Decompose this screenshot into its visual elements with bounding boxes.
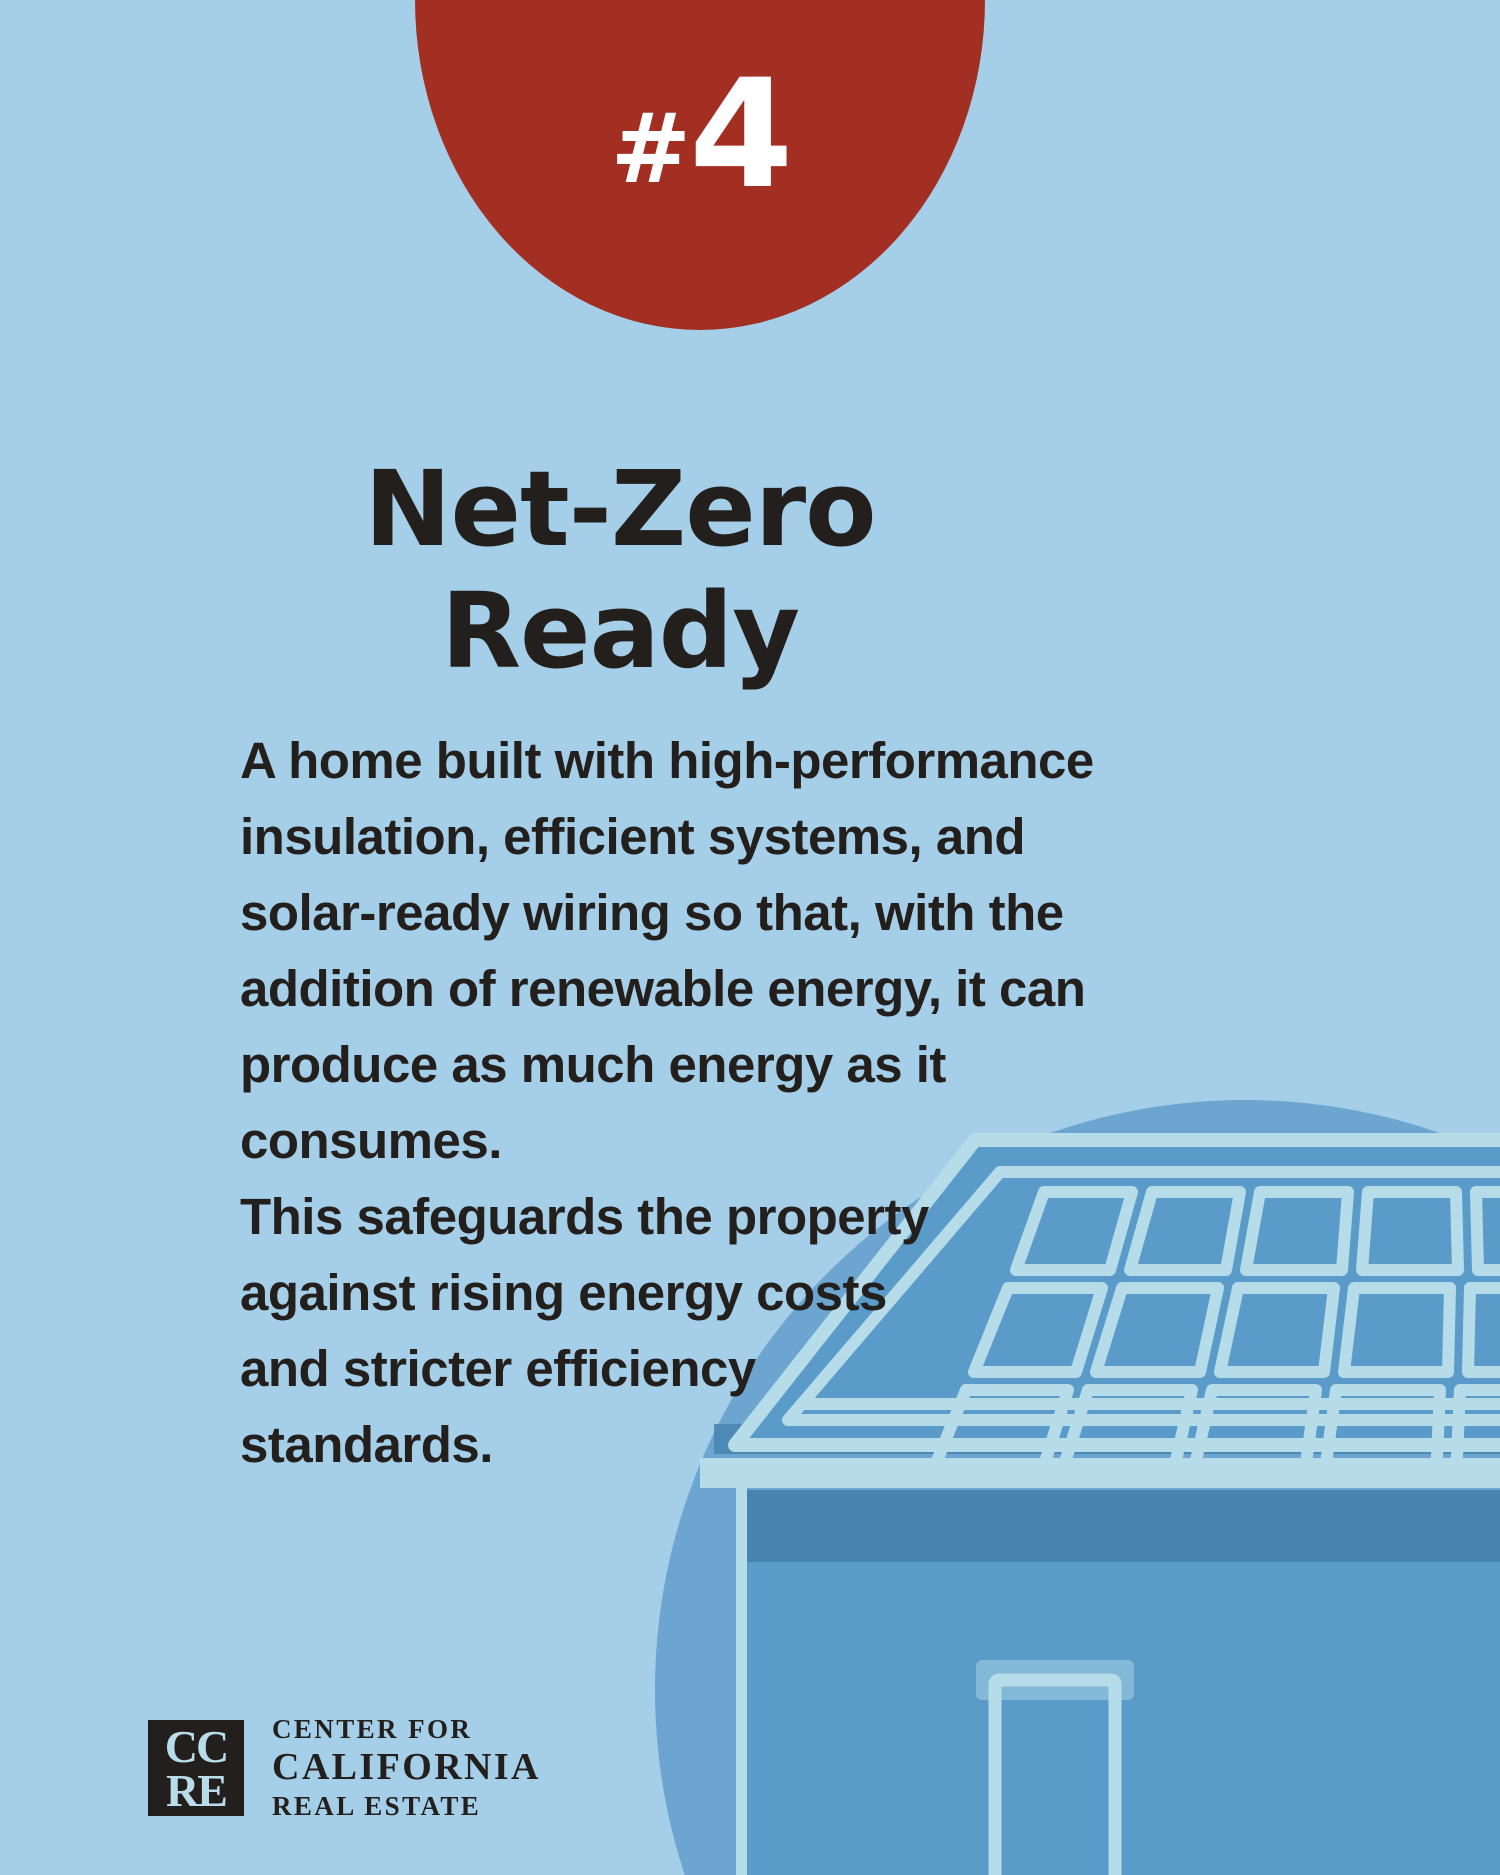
ccre-wordmark: CENTER FOR CALIFORNIA REAL ESTATE <box>272 1713 541 1823</box>
monogram-bottom: RE <box>166 1769 226 1813</box>
headline-line-1: Net-Zero <box>0 448 1240 571</box>
ccre-monogram-mark: CC RE <box>148 1720 244 1816</box>
door-header <box>976 1660 1134 1700</box>
house-eave-shadow <box>745 1490 1500 1562</box>
badge-number: #4 <box>611 60 790 210</box>
wordmark-line-3: REAL ESTATE <box>272 1790 541 1823</box>
number-badge: #4 <box>415 0 985 330</box>
house-left-edge <box>736 1475 747 1875</box>
net-zero-ready-card: #4 Net-Zero Ready A home built with high… <box>0 0 1500 1875</box>
body-paragraph: A home built with high-performance insul… <box>240 723 1140 1483</box>
ccre-monogram-text: CC RE <box>148 1720 244 1816</box>
headline-line-2: Ready <box>0 570 1240 693</box>
badge-hash-symbol: # <box>611 101 689 197</box>
ccre-logo: CC RE CENTER FOR CALIFORNIA REAL ESTATE <box>148 1713 541 1823</box>
wordmark-line-1: CENTER FOR <box>272 1713 541 1746</box>
page-title: Net-Zero Ready <box>0 448 1240 693</box>
monogram-top: CC <box>165 1725 227 1769</box>
badge-digit: 4 <box>689 60 789 210</box>
wordmark-line-2: CALIFORNIA <box>272 1746 541 1790</box>
